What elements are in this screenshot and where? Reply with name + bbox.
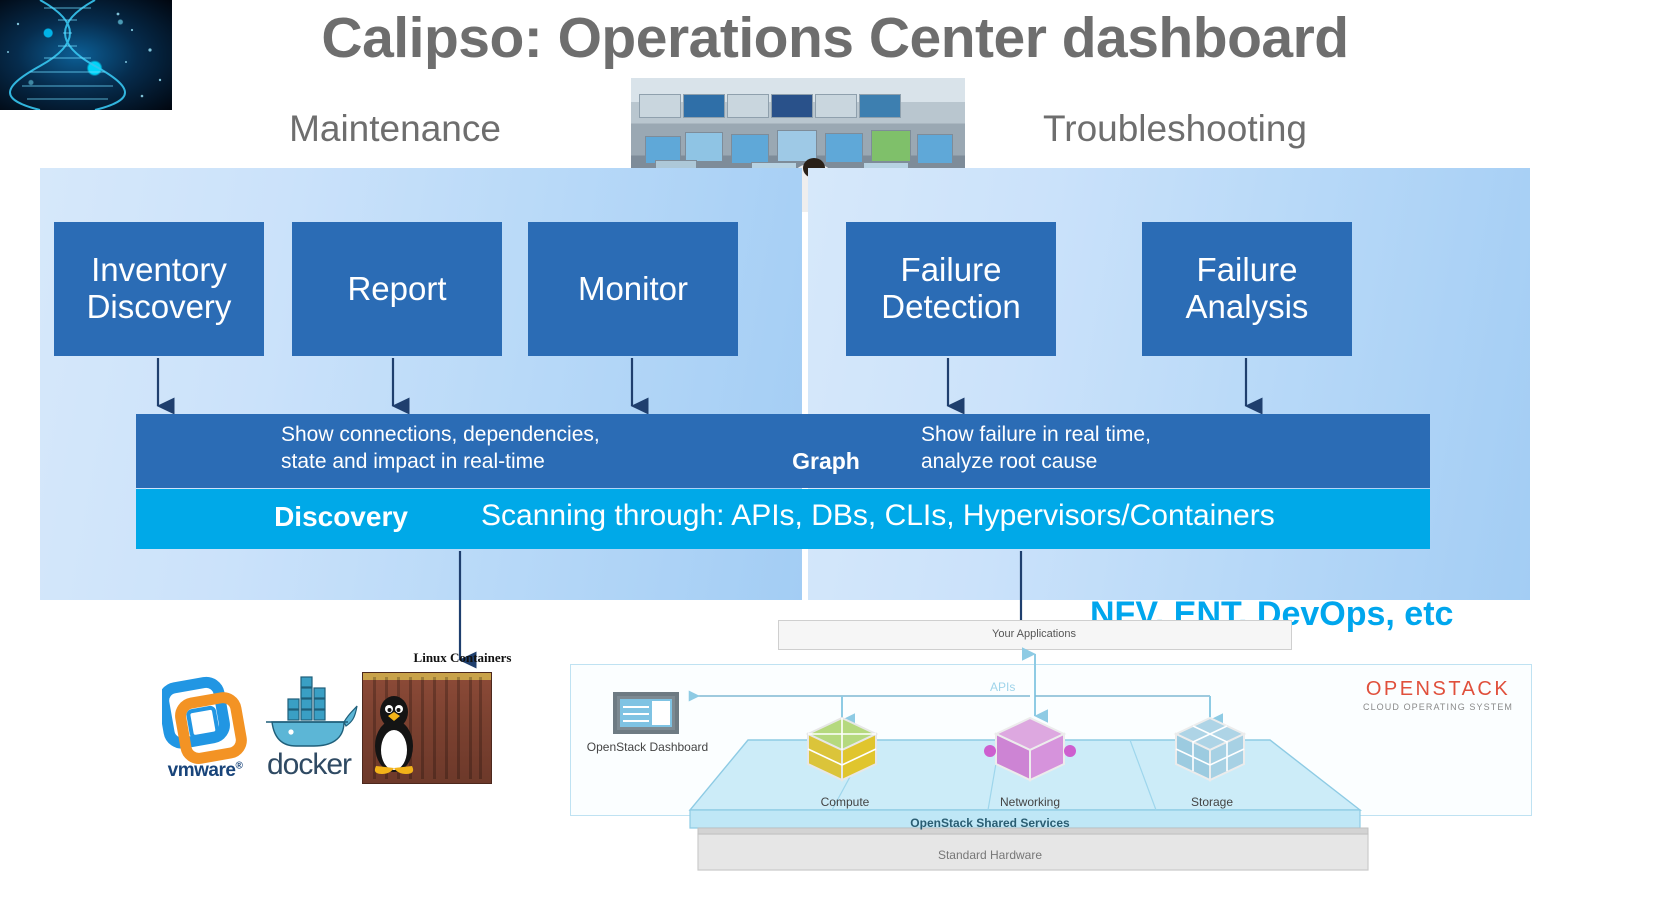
linux-containers-caption: Linux Containers — [375, 650, 550, 666]
feature-box-inventory-discovery[interactable]: Inventory Discovery — [54, 222, 264, 356]
discovery-label: Discovery — [226, 501, 456, 533]
openstack-dashboard-label: OpenStack Dashboard — [570, 740, 725, 754]
graph-right-line2: analyze root cause — [921, 450, 1097, 473]
section-label-troubleshooting: Troubleshooting — [940, 108, 1410, 150]
discovery-layer-bar[interactable]: Discovery Scanning through: APIs, DBs, C… — [136, 489, 1430, 549]
docker-whale-icon — [258, 672, 358, 752]
box-line1: Failure — [901, 251, 1002, 288]
storage-label: Storage — [1142, 795, 1282, 809]
openstack-architecture-diagram: Your Applications — [570, 620, 1530, 885]
dna-helix-icon — [0, 0, 172, 110]
box-line2: Analysis — [1186, 288, 1309, 325]
linux-penguin-icon — [368, 692, 420, 776]
standard-hardware-label: Standard Hardware — [820, 848, 1160, 862]
feature-box-monitor[interactable]: Monitor — [528, 222, 738, 356]
networking-label: Networking — [960, 795, 1100, 809]
box-line2: Detection — [881, 288, 1020, 325]
graph-label: Graph — [736, 448, 916, 475]
box-line1: Failure — [1197, 251, 1298, 288]
page-title: Calipso: Operations Center dashboard — [170, 2, 1500, 74]
shared-services-label: OpenStack Shared Services — [820, 816, 1160, 830]
box-line1: Inventory — [91, 251, 227, 288]
vmware-wordmark: vmware® — [150, 760, 260, 782]
vmware-trademark: ® — [235, 761, 242, 772]
openstack-dashboard-icon — [613, 692, 679, 734]
apis-label: APIs — [990, 680, 1015, 694]
graph-right-line1: Show failure in real time, — [921, 423, 1151, 446]
discovery-description: Scanning through: APIs, DBs, CLIs, Hyper… — [481, 499, 1421, 533]
openstack-brand: OPENSTACK CLOUD OPERATING SYSTEM — [1348, 678, 1528, 712]
feature-box-failure-analysis[interactable]: Failure Analysis — [1142, 222, 1352, 356]
docker-wordmark: docker — [250, 748, 368, 782]
box-line1: Report — [347, 271, 446, 308]
feature-box-failure-detection[interactable]: Failure Detection — [846, 222, 1056, 356]
openstack-brand-name: OPENSTACK — [1348, 678, 1528, 701]
feature-box-report[interactable]: Report — [292, 222, 502, 356]
box-line1: Monitor — [578, 271, 688, 308]
vmware-label: vmware — [168, 760, 236, 781]
vmware-logo-icon — [162, 675, 248, 771]
graph-left-line2: state and impact in real-time — [281, 450, 545, 473]
graph-left-line1: Show connections, dependencies, — [281, 423, 600, 446]
section-label-maintenance: Maintenance — [160, 108, 630, 150]
graph-layer-bar[interactable]: Show connections, dependencies, state an… — [136, 414, 1430, 488]
graph-right-description: Show failure in real time, analyze root … — [921, 421, 1321, 475]
box-line2: Discovery — [87, 288, 232, 325]
compute-label: Compute — [775, 795, 915, 809]
openstack-brand-tagline: CLOUD OPERATING SYSTEM — [1348, 702, 1528, 712]
graph-left-description: Show connections, dependencies, state an… — [281, 421, 711, 475]
